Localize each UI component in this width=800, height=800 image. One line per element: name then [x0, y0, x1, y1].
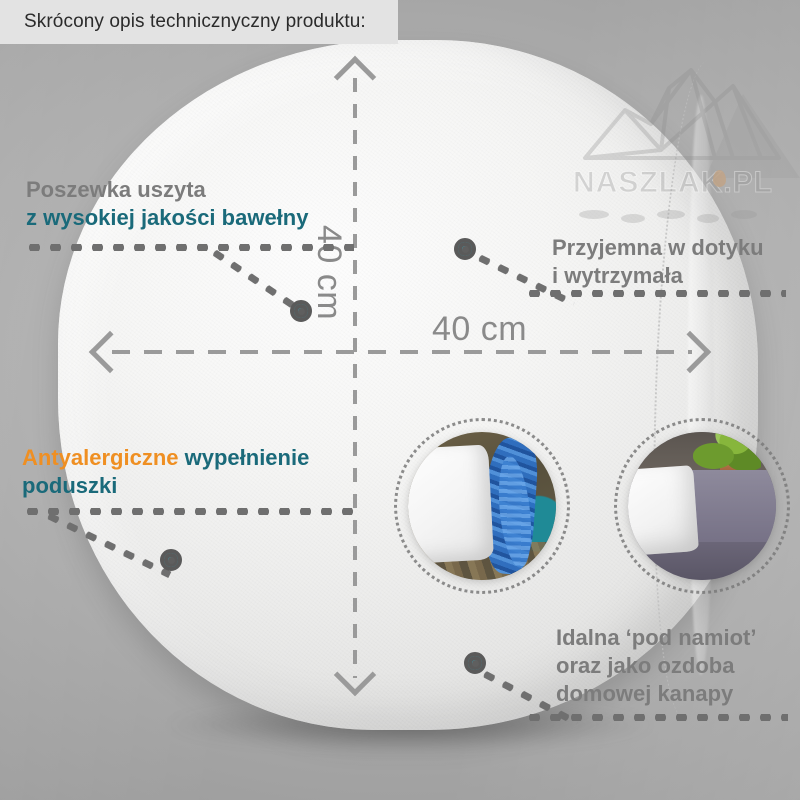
- callout-tent-and-sofa-line1: Idalna ‘pod namiot’: [556, 624, 756, 652]
- inset-sofa-photo: [628, 432, 776, 580]
- product-infographic: NASZLAK.PL 40 cm 40 cm Poszewka uszyta z…: [0, 0, 800, 800]
- marker-antiallergic-filling: [160, 549, 182, 571]
- callout-antiallergic-filling-line1: Antyalergiczne wypełnienie: [22, 444, 309, 472]
- sofa-scene: [628, 432, 776, 580]
- callout-pleasant-touch: Przyjemna w dotyku i wytrzymała: [552, 234, 764, 290]
- outdoor-pillow: [408, 444, 494, 564]
- callout-cover-fabric-line1: Poszewka uszyta: [26, 176, 308, 204]
- callout-antiallergic-filling: Antyalergiczne wypełnienie poduszki: [22, 444, 309, 500]
- header-bar: Skrócony opis technicznyczny produktu:: [0, 0, 398, 44]
- callout-cover-fabric: Poszewka uszyta z wysokiej jakości baweł…: [26, 176, 308, 232]
- height-dimension-line: [353, 78, 357, 678]
- callout-antiallergic-rail: [22, 508, 358, 515]
- callout-antiallergic-highlight: Antyalergiczne: [22, 445, 179, 470]
- callout-tent-and-sofa-line3: domowej kanapy: [556, 680, 756, 708]
- height-dimension-label: 40 cm: [309, 225, 348, 320]
- marker-cover-fabric: [290, 300, 312, 322]
- callout-cover-fabric-line2: z wysokiej jakości bawełny: [26, 204, 308, 232]
- sofa-pillow: [628, 465, 699, 557]
- inset-outdoor-photo: [408, 432, 556, 580]
- marker-pleasant-touch: [454, 238, 476, 260]
- callout-tent-and-sofa: Idalna ‘pod namiot’ oraz jako ozdoba dom…: [556, 624, 756, 708]
- callout-pleasant-touch-line1: Przyjemna w dotyku: [552, 234, 764, 262]
- page-title: Skrócony opis technicznyczny produktu:: [0, 11, 366, 33]
- marker-tent-and-sofa: [464, 652, 486, 674]
- width-dimension-label: 40 cm: [432, 310, 527, 349]
- callout-cover-fabric-rail: [24, 244, 354, 251]
- callout-antiallergic-filling-line2: poduszki: [22, 472, 309, 500]
- callout-pleasant-touch-line2: i wytrzymała: [552, 262, 764, 290]
- callout-antiallergic-rest: wypełnienie: [185, 445, 310, 470]
- callout-tent-and-sofa-line2: oraz jako ozdoba: [556, 652, 756, 680]
- outdoor-scene: [408, 432, 556, 580]
- width-dimension-line: [112, 350, 692, 354]
